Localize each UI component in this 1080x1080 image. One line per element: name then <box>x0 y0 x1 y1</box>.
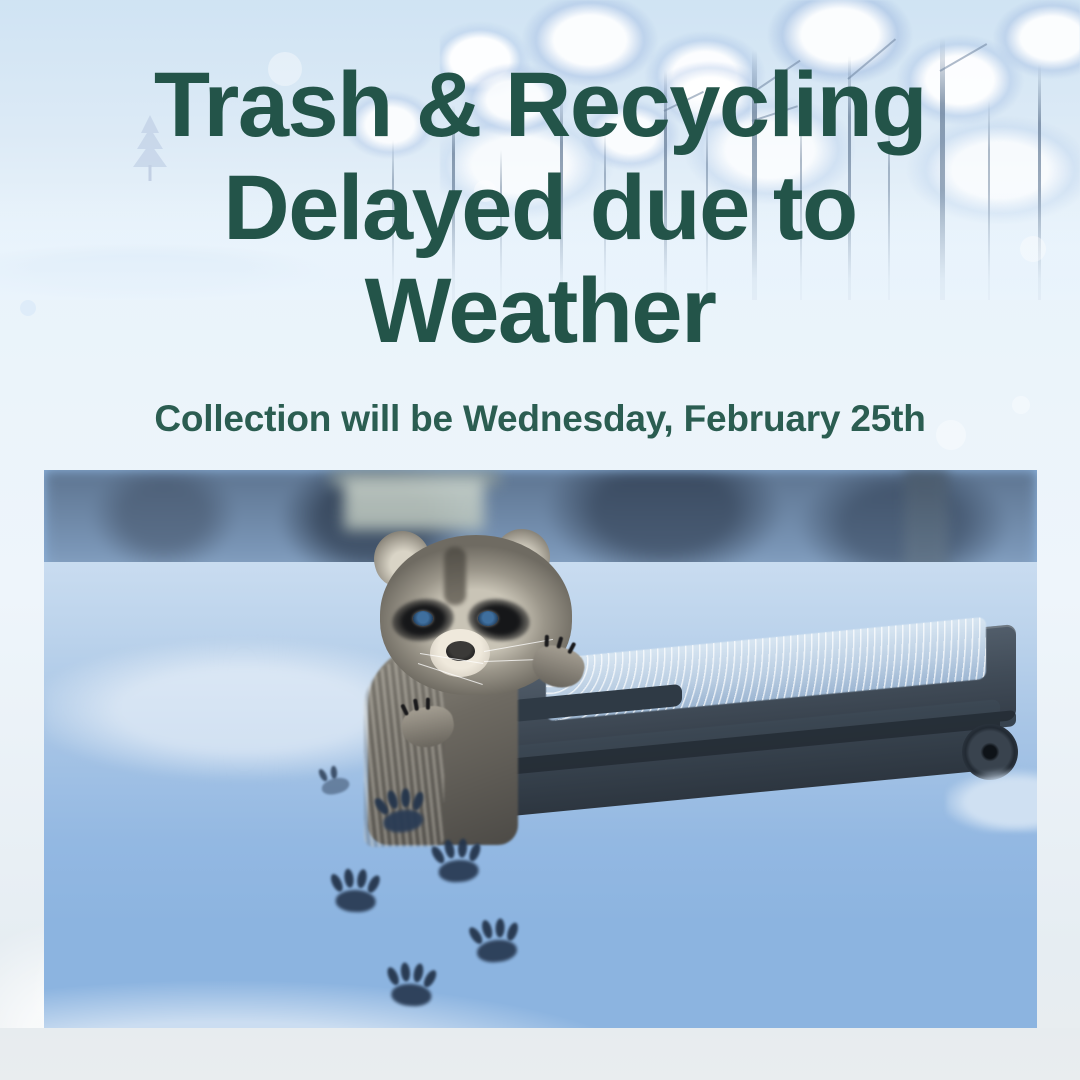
paw-print <box>466 915 527 969</box>
raccoon-eye-left <box>413 611 433 626</box>
announcement-poster: Trash & Recycling Delayed due to Weather… <box>0 0 1080 1080</box>
raccoon-forehead-stripe <box>444 547 466 605</box>
house-blur <box>344 478 484 530</box>
page-title: Trash & Recycling Delayed due to Weather <box>0 54 1080 363</box>
headline-line-3: Weather <box>0 260 1080 363</box>
paw-print <box>371 784 433 839</box>
snow-pile <box>946 762 1037 832</box>
raccoon <box>344 525 644 825</box>
subheadline: Collection will be Wednesday, February 2… <box>0 398 1080 440</box>
headline-line-2: Delayed due to <box>0 157 1080 260</box>
bottom-background-strip <box>0 1028 1080 1080</box>
paw-print <box>382 960 441 1012</box>
paw-print <box>428 836 487 888</box>
headline-line-1: Trash & Recycling <box>0 54 1080 157</box>
raccoon-eye-right <box>478 611 498 626</box>
paw-print <box>327 867 385 917</box>
raccoon-trash-bin-photo: 1712 UWCHLAN TOWNSHIP CHESTER COUNTY, PA <box>44 470 1037 1028</box>
